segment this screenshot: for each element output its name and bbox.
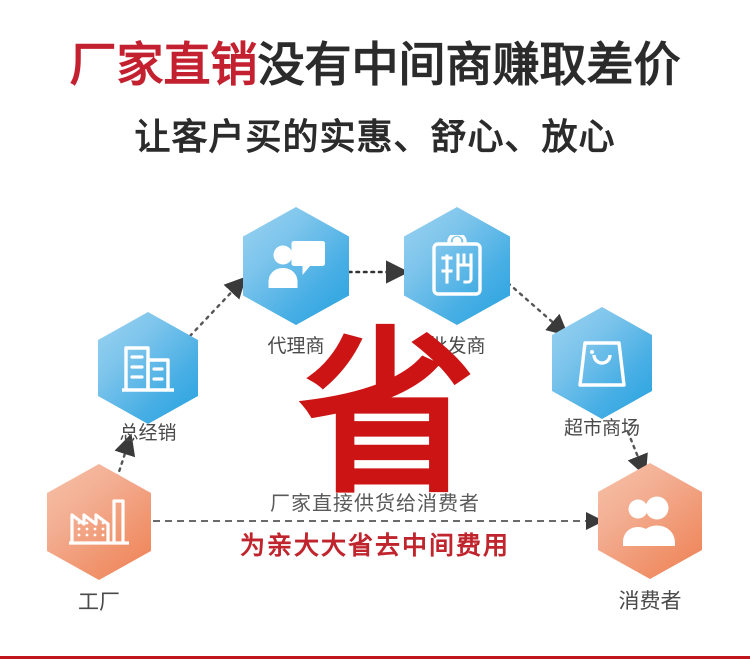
flow-node-factory[interactable]: 工厂 xyxy=(47,464,151,580)
flow-node-distributor[interactable]: 总经销 xyxy=(98,312,198,424)
agent-chat-icon xyxy=(266,238,326,294)
flow-node-label-factory: 工厂 xyxy=(0,586,199,616)
clipboard-pi-icon xyxy=(430,235,484,297)
shopping-bag-icon xyxy=(575,335,629,391)
direct-supply-caption: 厂家直接供货给消费者 xyxy=(0,487,750,516)
savings-watermark: 省 xyxy=(292,322,482,502)
office-building-icon xyxy=(120,340,176,396)
flow-node-label-consumer: 消费者 xyxy=(550,585,750,615)
flow-node-label-distributor: 总经销 xyxy=(48,418,248,445)
sheng-character-glyph: 省 xyxy=(292,322,482,502)
flow-node-label-supermarket: 超市商场 xyxy=(502,413,702,440)
flow-node-wholesaler[interactable]: 批发商 xyxy=(404,207,510,325)
hexagon-wholesaler xyxy=(404,207,510,325)
supply-chain-flow: 代理商 xyxy=(0,0,750,659)
hexagon-distributor xyxy=(98,312,198,424)
hexagon-supermarket xyxy=(552,307,652,419)
hexagon-agent xyxy=(243,207,349,325)
direct-supply-highlight: 为亲大大省去中间费用 xyxy=(0,526,750,562)
flow-node-agent[interactable]: 代理商 xyxy=(243,207,349,325)
infographic-canvas: 厂家直销没有中间商赚取差价 让客户买的实惠、舒心、放心 xyxy=(0,0,750,659)
flow-node-supermarket[interactable]: 超市商场 xyxy=(552,307,652,419)
sheng-text: 省 xyxy=(298,322,476,502)
hexagon-factory xyxy=(47,464,151,580)
